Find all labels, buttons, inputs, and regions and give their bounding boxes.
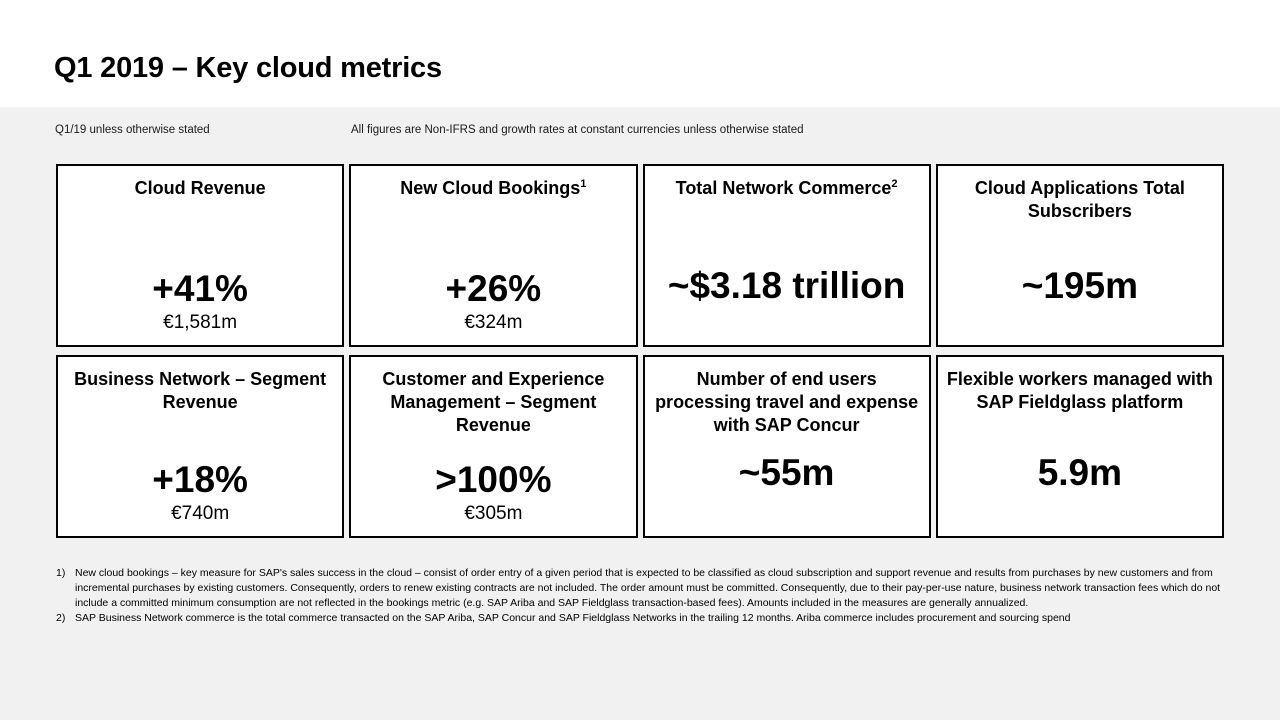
metric-card-title-text: New Cloud Bookings: [400, 178, 580, 198]
metric-card-concur-end-users: Number of end users processing travel an…: [643, 355, 931, 538]
metric-card-title-text: Cloud Applications Total Subscribers: [975, 178, 1185, 221]
metric-card-value: 5.9m: [1038, 454, 1122, 492]
metric-card-cloud-revenue: Cloud Revenue +41% €1,581m: [56, 164, 344, 347]
slide-root: Q1 2019 – Key cloud metrics Q1/19 unless…: [0, 0, 1280, 720]
metric-card-title: Business Network – Segment Revenue: [66, 368, 334, 414]
metric-card-title-text: Total Network Commerce: [676, 178, 892, 198]
notes-row: Q1/19 unless otherwise stated All figure…: [0, 124, 1280, 142]
metric-card-title: Cloud Applications Total Subscribers: [946, 177, 1214, 223]
footnote-marker: 1): [56, 566, 75, 581]
note-period: Q1/19 unless otherwise stated: [55, 124, 210, 136]
metric-card-cxm-segment-revenue: Customer and Experience Management – Seg…: [349, 355, 637, 538]
page-title: Q1 2019 – Key cloud metrics: [54, 52, 442, 85]
footnote-ref-1: 1: [580, 178, 586, 190]
metrics-grid: Cloud Revenue +41% €1,581m New Cloud Boo…: [56, 164, 1224, 538]
footnote-item: 1) New cloud bookings – key measure for …: [56, 566, 1236, 611]
metric-card-new-cloud-bookings: New Cloud Bookings1 +26% €324m: [349, 164, 637, 347]
metric-card-title: Cloud Revenue: [66, 177, 334, 200]
metric-card-title-text: Customer and Experience Management – Seg…: [382, 369, 604, 435]
metric-card-title: Customer and Experience Management – Seg…: [359, 368, 627, 437]
footnote-item: 2) SAP Business Network commerce is the …: [56, 611, 1236, 626]
metric-card-value: +41%: [152, 270, 248, 308]
note-disclaimer: All figures are Non-IFRS and growth rate…: [351, 124, 804, 136]
metric-card-total-network-commerce: Total Network Commerce2 ~$3.18 trillion: [643, 164, 931, 347]
footnote-marker: 2): [56, 611, 75, 626]
metric-card-subvalue: €740m: [171, 503, 229, 526]
metric-card-business-network-segment-revenue: Business Network – Segment Revenue +18% …: [56, 355, 344, 538]
metric-card-title-text: Number of end users processing travel an…: [655, 369, 918, 435]
metric-card-value: +26%: [446, 270, 542, 308]
metric-card-value: ~195m: [1022, 267, 1138, 305]
metric-card-cloud-applications-subscribers: Cloud Applications Total Subscribers ~19…: [936, 164, 1224, 347]
metric-card-title-text: Business Network – Segment Revenue: [74, 369, 326, 412]
metric-card-title: New Cloud Bookings1: [359, 177, 627, 200]
metric-card-value: ~55m: [739, 454, 835, 492]
metric-card-title: Number of end users processing travel an…: [653, 368, 921, 437]
metric-card-value: +18%: [152, 461, 248, 499]
footnote-text: SAP Business Network commerce is the tot…: [75, 611, 1236, 626]
footnote-text: New cloud bookings – key measure for SAP…: [75, 566, 1236, 611]
footnote-ref-2: 2: [891, 178, 897, 190]
footnotes: 1) New cloud bookings – key measure for …: [56, 566, 1236, 626]
metric-card-title-text: Flexible workers managed with SAP Fieldg…: [947, 369, 1213, 412]
metric-card-title: Flexible workers managed with SAP Fieldg…: [946, 368, 1214, 414]
metric-card-title: Total Network Commerce2: [653, 177, 921, 200]
metric-card-subvalue: €1,581m: [163, 312, 237, 335]
metric-card-value: ~$3.18 trillion: [668, 267, 906, 305]
metric-card-value: >100%: [435, 461, 551, 499]
metric-card-title-text: Cloud Revenue: [135, 178, 266, 198]
metric-card-subvalue: €324m: [464, 312, 522, 335]
metric-card-fieldglass-flexible-workers: Flexible workers managed with SAP Fieldg…: [936, 355, 1224, 538]
metric-card-subvalue: €305m: [464, 503, 522, 526]
